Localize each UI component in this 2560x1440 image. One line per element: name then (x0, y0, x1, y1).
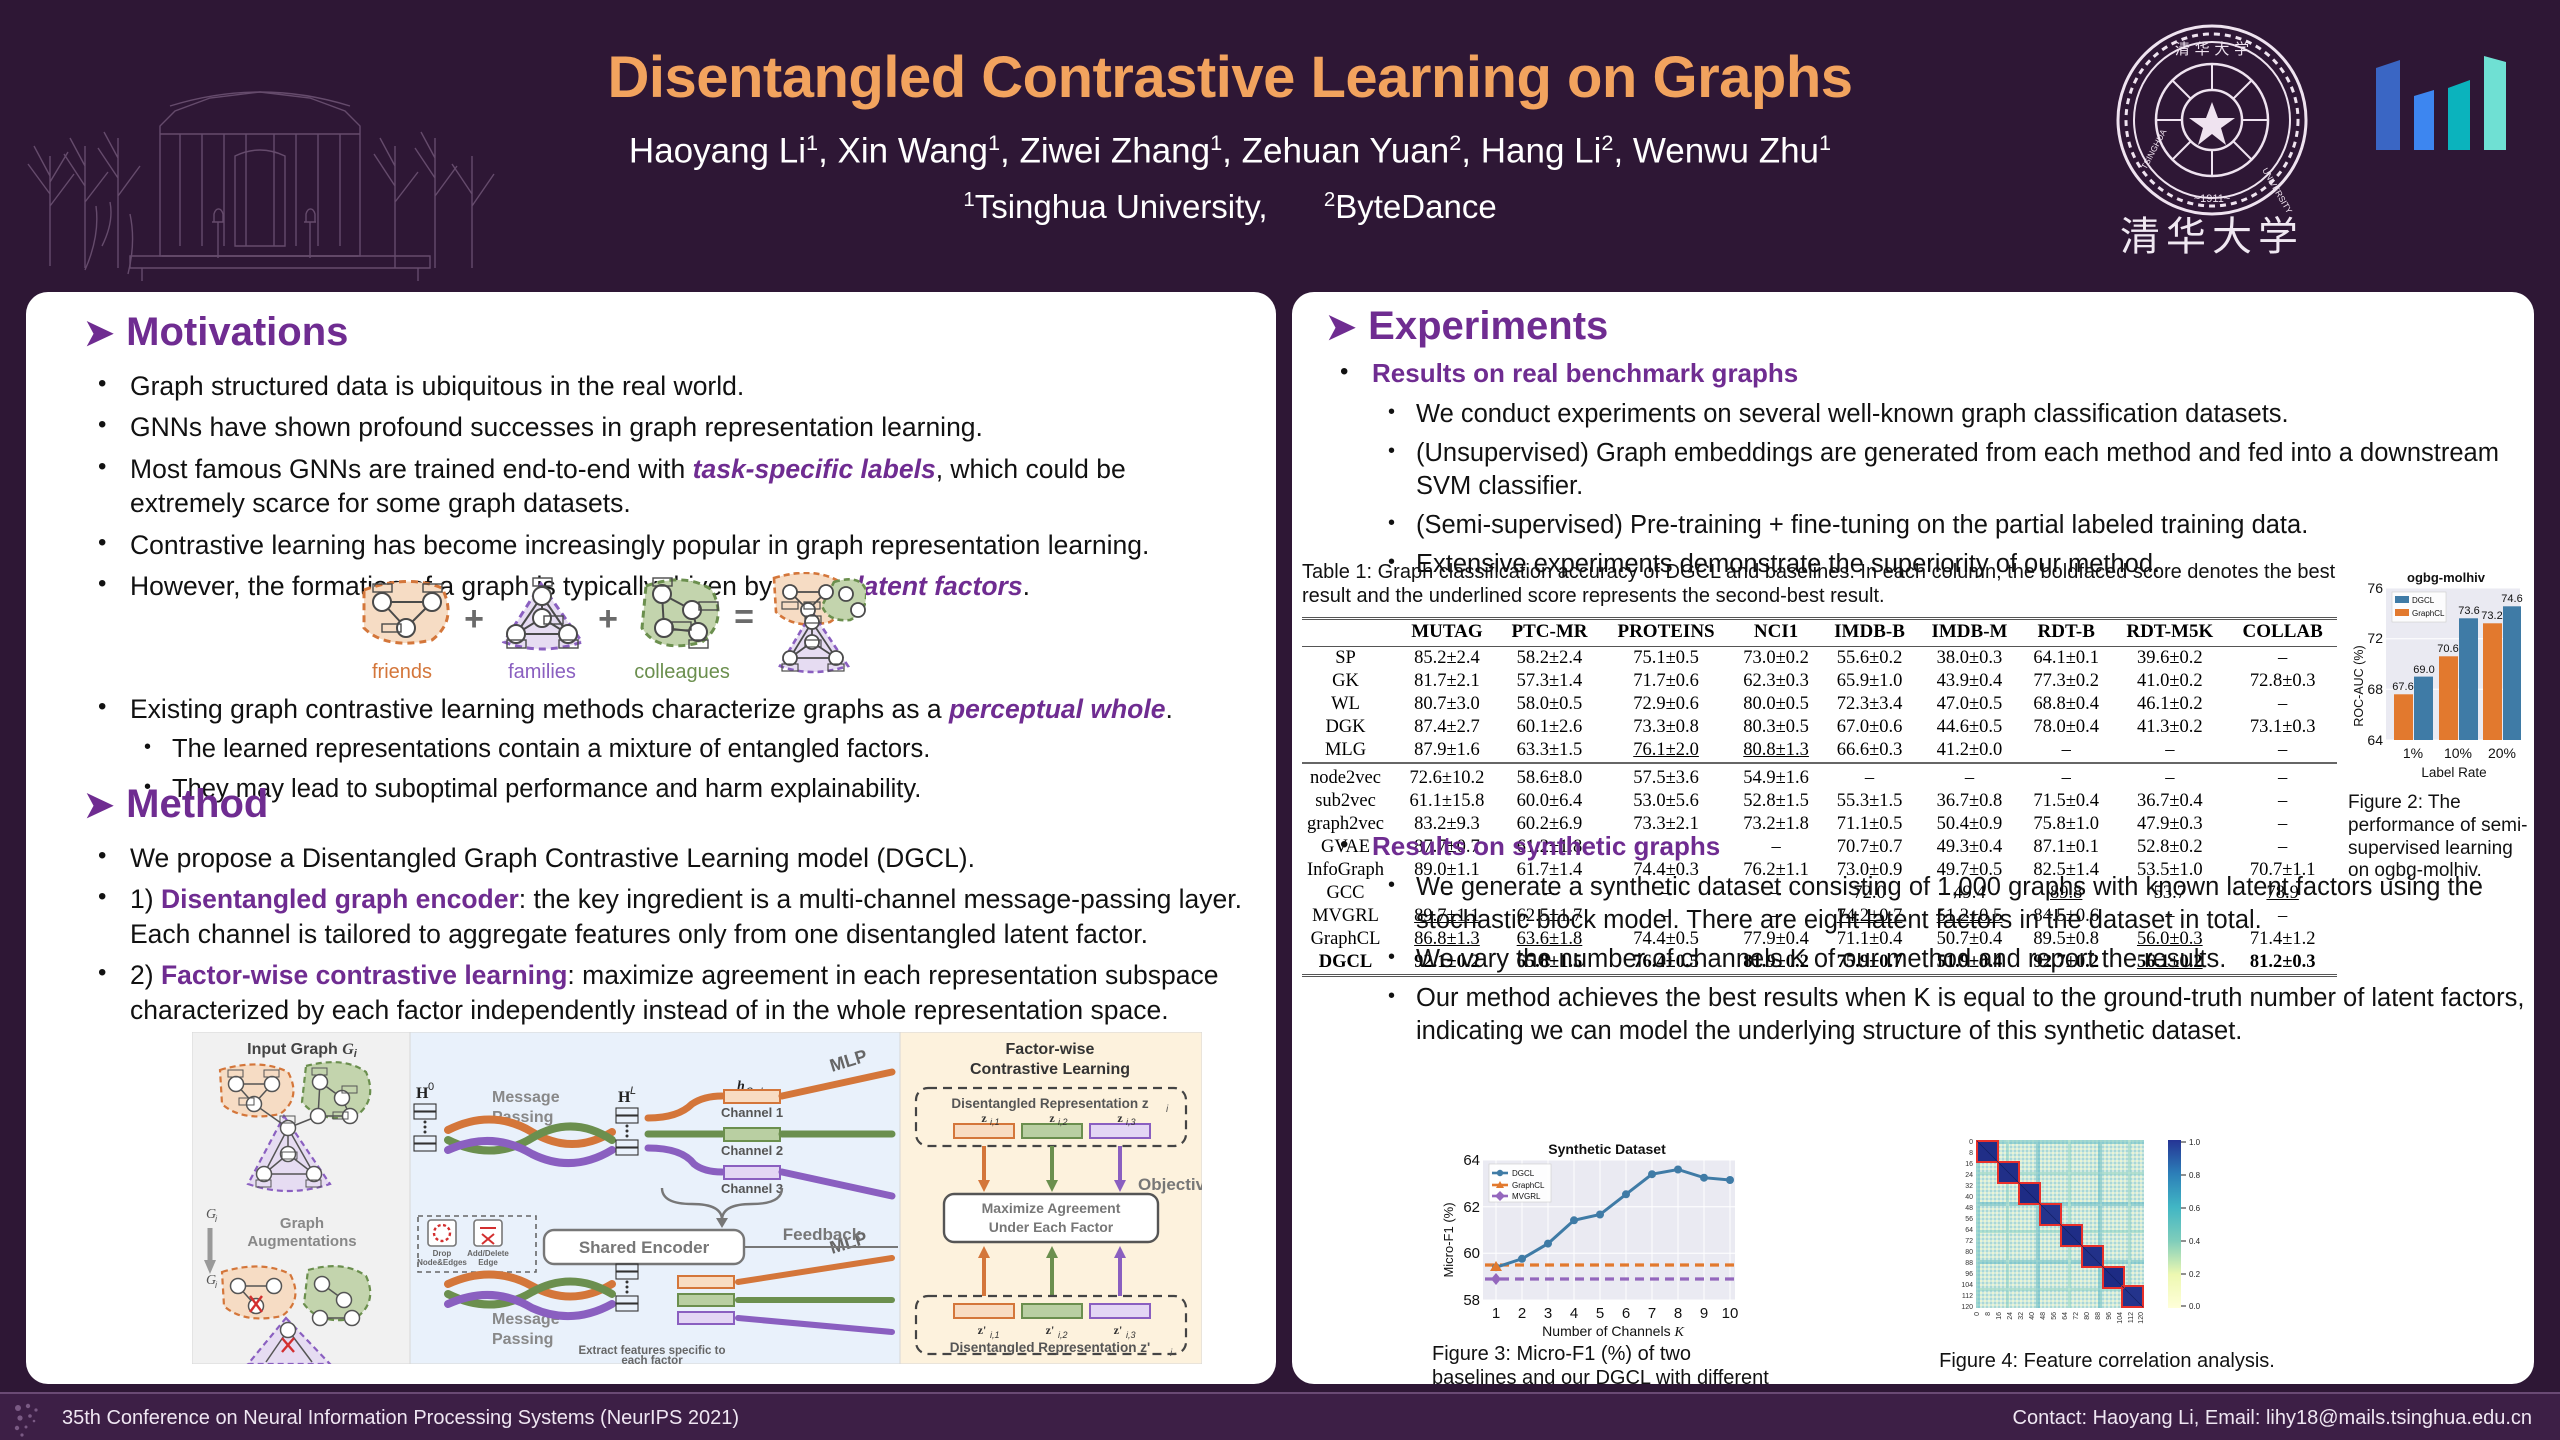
svg-text:z': z' (1114, 1323, 1123, 1337)
fig2-ytick: 76 (2367, 580, 2383, 596)
heatmap-ytick: 48 (1965, 1205, 1973, 1212)
list-item: Graph structured data is ubiquitous in t… (84, 369, 1244, 403)
fig2-legend-graphcl: GraphCL (2412, 609, 2445, 618)
heatmap-xtick: 8 (1985, 1312, 1992, 1316)
colorbar-tick: 0.8 (2189, 1171, 2201, 1180)
svg-text:Message: Message (492, 1089, 560, 1106)
latent-factors-figure: friends + families + (346, 572, 866, 692)
table-cell: 58.6±8.0 (1498, 767, 1601, 790)
col-head: RDT-B (2021, 618, 2111, 644)
heatmap-xtick: 0 (1974, 1312, 1981, 1316)
motivations-bullet-list: Graph structured data is ubiquitous in t… (84, 369, 1244, 604)
svg-text:Channel 2: Channel 2 (721, 1143, 783, 1158)
table-cell: – (2228, 767, 2337, 790)
table-row-label: SP (1302, 646, 1396, 670)
table-cell: – (2111, 767, 2228, 790)
list-item: Results on synthetic graphs (1326, 830, 2526, 864)
table-row: MLG87.9±1.663.3±1.576.1±2.080.8±1.366.6±… (1302, 739, 2337, 763)
plus-operator-2: + (598, 600, 618, 638)
factor-label-families: families (508, 661, 576, 683)
fig3-ytick: 58 (1463, 1292, 1480, 1309)
heatmap-xtick: 72 (2073, 1312, 2080, 1320)
equals-operator: = (734, 598, 754, 636)
table-row-label: DGK (1302, 716, 1396, 739)
svg-text:i,1: i,1 (990, 1330, 1000, 1340)
bytedance-logo (2370, 46, 2510, 156)
table-row-label: node2vec (1302, 767, 1396, 790)
experiments-sub2: Results on synthetic graphs We generate … (1326, 830, 2526, 1055)
figure4-caption: Figure 4: Feature correlation analysis. (1932, 1350, 2282, 1373)
heatmap-xtick: 56 (2051, 1312, 2058, 1320)
list-item: We generate a synthetic dataset consisti… (1372, 871, 2526, 937)
fig2-ytick: 72 (2367, 630, 2383, 646)
heatmap-ytick: 112 (1962, 1293, 1973, 1300)
fig2-legend-dgcl: DGCL (2412, 596, 2435, 605)
list-item: Results on real benchmark graphs (1326, 357, 2526, 391)
table-cell: 71.5±0.4 (2021, 790, 2111, 813)
table-row: DGK87.4±2.760.1±2.673.3±0.880.3±0.567.0±… (1302, 716, 2337, 739)
heatmap-xtick: 120 (2138, 1312, 2145, 1324)
motivations-heading-text: Motivations (126, 310, 348, 355)
table-cell: 38.0±0.3 (1918, 646, 2021, 670)
table-cell: 80.3±0.5 (1731, 716, 1821, 739)
svg-text:i,2: i,2 (1058, 1330, 1068, 1340)
table-row-label: GK (1302, 670, 1396, 693)
table-cell: 55.6±0.2 (1821, 646, 1918, 670)
poster-footer: 35th Conference on Neural Information Pr… (0, 1392, 2560, 1440)
col-head: RDT-M5K (2111, 618, 2228, 644)
table-cell: 36.7±0.8 (1918, 790, 2021, 813)
table-cell: 52.8±1.5 (1731, 790, 1821, 813)
figure2-bar-chart: ogbg-molhiv ROC-AUC (%) 76 72 68 64 (2350, 568, 2534, 788)
experiments-heading: ➤ Experiments (1326, 304, 2526, 349)
affiliation-line: 1Tsinghua University, 2ByteDance (430, 188, 2030, 226)
list-item: We propose a Disentangled Graph Contrast… (84, 841, 1264, 875)
fig2-bar-value: 69.0 (2413, 664, 2434, 676)
table-cell: 43.9±0.4 (1918, 670, 2021, 693)
table-cell: 41.0±0.2 (2111, 670, 2228, 693)
col-head: IMDB-B (1821, 618, 1918, 644)
svg-text:z': z' (1046, 1323, 1055, 1337)
svg-text:Disentangled Representation z: Disentangled Representation z (951, 1096, 1149, 1111)
table-cell: 58.0±0.5 (1498, 693, 1601, 716)
fig3-xtick: 2 (1518, 1305, 1526, 1322)
list-item: Our method achieves the best results whe… (1372, 982, 2526, 1048)
col-head: PROTEINS (1601, 618, 1731, 644)
table-row-label: WL (1302, 693, 1396, 716)
col-head: MUTAG (1396, 618, 1498, 644)
table-row: WL80.7±3.058.0±0.572.9±0.680.0±0.572.3±3… (1302, 693, 2337, 716)
fig3-xtick: 1 (1492, 1305, 1500, 1322)
heatmap-xtick: 24 (2007, 1312, 2014, 1320)
fig3-ylabel: Micro-F1 (%) (1441, 1202, 1456, 1277)
fig3-xtick: 7 (1648, 1305, 1656, 1322)
table-cell: 39.6±0.2 (2111, 646, 2228, 670)
svg-text:each factor: each factor (621, 1355, 683, 1364)
table-cell: 53.0±5.6 (1601, 790, 1731, 813)
list-item: (Semi-supervised) Pre-training + fine-tu… (1372, 509, 2526, 542)
fig2-xtick: 20% (2488, 745, 2516, 761)
fig3-legend-graphcl: GraphCL (1512, 1181, 1545, 1190)
fig3-xlabel: Number of Channels K (1542, 1323, 1684, 1340)
table-cell: 57.5±3.6 (1601, 767, 1731, 790)
table-cell: 62.3±0.3 (1731, 670, 1821, 693)
right-column-panel: ➤ Experiments Results on real benchmark … (1292, 292, 2534, 1384)
table-cell: 72.9±0.6 (1601, 693, 1731, 716)
heatmap-ytick: 120 (1961, 1304, 1973, 1311)
list-item: The learned representations contain a mi… (128, 733, 1264, 766)
table-cell: – (2228, 790, 2337, 813)
table-cell: 57.3±1.4 (1498, 670, 1601, 693)
table-row-label: MLG (1302, 739, 1396, 763)
table-row: SP85.2±2.458.2±2.475.1±0.573.0±0.255.6±0… (1302, 646, 2337, 670)
svg-text:Under Each Factor: Under Each Factor (989, 1219, 1114, 1235)
table-row: GK81.7±2.157.3±1.471.7±0.662.3±0.365.9±1… (1302, 670, 2337, 693)
list-item: 2) Factor-wise contrastive learning: max… (84, 958, 1264, 1027)
heatmap-ytick: 56 (1965, 1216, 1973, 1223)
table-cell: – (2111, 739, 2228, 763)
table-cell: 55.3±1.5 (1821, 790, 1918, 813)
heatmap-ytick: 0 (1969, 1139, 1973, 1146)
heatmap-xtick: 32 (2018, 1312, 2025, 1320)
fig3-xtick: 5 (1596, 1305, 1604, 1322)
table-cell: 65.9±1.0 (1821, 670, 1918, 693)
plus-operator-1: + (464, 600, 484, 638)
poster-header: Disentangled Contrastive Learning on Gra… (0, 0, 2560, 290)
svg-text:Disentangled Representation z': Disentangled Representation z' (950, 1340, 1151, 1355)
heatmap-ytick: 24 (1965, 1172, 1973, 1179)
col-head: COLLAB (2228, 618, 2337, 644)
svg-text:L: L (630, 1085, 636, 1097)
table-cell: – (1918, 767, 2021, 790)
fig2-bar-value: 70.6 (2437, 643, 2458, 655)
svg-text:Channel 1: Channel 1 (721, 1105, 783, 1120)
colorbar-tick: 1.0 (2189, 1138, 2201, 1147)
chevron-right-icon: ➤ (84, 315, 114, 351)
table-cell: 87.9±1.6 (1396, 739, 1498, 763)
fig2-ytick: 68 (2367, 681, 2383, 697)
fig2-bar-value: 73.6 (2458, 605, 2479, 617)
heatmap-ytick: 8 (1969, 1150, 1973, 1157)
fig3-legend-dgcl: DGCL (1512, 1169, 1535, 1178)
svg-text:z: z (1049, 1111, 1055, 1125)
svg-text:Objective: Objective (1138, 1175, 1202, 1194)
motivations-bullet-list-2: Existing graph contrastive learning meth… (84, 692, 1264, 726)
heatmap-ytick: 88 (1965, 1260, 1973, 1267)
chevron-right-icon: ➤ (1326, 309, 1356, 345)
factor-label-friends: friends (372, 661, 432, 683)
table-cell: 41.2±0.0 (1918, 739, 2021, 763)
table-cell: 72.8±0.3 (2228, 670, 2337, 693)
experiments-sub2-bullets: We generate a synthetic dataset consisti… (1372, 871, 2526, 1049)
table-cell: 81.7±2.1 (1396, 670, 1498, 693)
heatmap-xtick: 112 (2128, 1312, 2135, 1323)
input-graph-title: Input Graph Gi (247, 1041, 358, 1060)
list-item: We conduct experiments on several well-k… (1372, 398, 2526, 431)
table-cell: 44.6±0.5 (1918, 716, 2021, 739)
fig2-xtick: 10% (2444, 745, 2472, 761)
motivations-section: ➤ Motivations Graph structured data is u… (84, 310, 1244, 611)
table-cell: 54.9±1.6 (1731, 767, 1821, 790)
table-row: sub2vec61.1±15.860.0±6.453.0±5.652.8±1.5… (1302, 790, 2337, 813)
list-item: 1) Disentangled graph encoder: the key i… (84, 882, 1264, 951)
table-cell: – (1821, 767, 1918, 790)
table-cell: 87.4±2.7 (1396, 716, 1498, 739)
svg-text:z: z (1117, 1111, 1123, 1125)
fig3-ytick: 60 (1463, 1245, 1480, 1262)
table-cell: 85.2±2.4 (1396, 646, 1498, 670)
colorbar-tick: 0.4 (2189, 1237, 2201, 1246)
svg-text:Passing: Passing (492, 1331, 553, 1348)
table-cell: 73.3±0.8 (1601, 716, 1731, 739)
table-cell: 78.0±0.4 (2021, 716, 2111, 739)
col-head: PTC-MR (1498, 618, 1601, 644)
heatmap-ytick: 16 (1965, 1161, 1973, 1168)
heatmap-xtick: 40 (2029, 1312, 2036, 1320)
svg-text:i,2: i,2 (1058, 1117, 1068, 1127)
factor-label-colleagues: colleagues (634, 661, 730, 683)
svg-text:Channel 3: Channel 3 (721, 1181, 783, 1196)
table-cell: – (2228, 646, 2337, 670)
author-list: Haoyang Li1, Xin Wang1, Ziwei Zhang1, Ze… (430, 130, 2030, 172)
table-cell: 73.0±0.2 (1731, 646, 1821, 670)
experiments-heading-text: Experiments (1368, 304, 1608, 349)
table-row-label: sub2vec (1302, 790, 1396, 813)
svg-text:Contrastive Learning: Contrastive Learning (970, 1061, 1130, 1078)
fig3-xtick: 10 (1722, 1305, 1739, 1322)
table-cell: 80.8±1.3 (1731, 739, 1821, 763)
colorbar-tick: 0.0 (2189, 1302, 2201, 1311)
experiments-section: ➤ Experiments Results on real benchmark … (1326, 304, 2526, 588)
heatmap-ytick: 96 (1965, 1271, 1973, 1278)
heatmap-xtick: 64 (2062, 1312, 2069, 1320)
heatmap-xtick: 104 (2117, 1312, 2124, 1324)
heatmap-xtick: 88 (2095, 1312, 2102, 1320)
table-cell: 61.1±15.8 (1396, 790, 1498, 813)
table-cell: 36.7±0.4 (2111, 790, 2228, 813)
affiliation-1: Tsinghua University, (975, 188, 1268, 225)
table-cell: 60.0±6.4 (1498, 790, 1601, 813)
page-title: Disentangled Contrastive Learning on Gra… (430, 44, 2030, 111)
svg-text:Drop: Drop (433, 1249, 452, 1258)
tsinghua-chinese-name: 清华大学 (2082, 204, 2342, 262)
svg-text:Augmentations: Augmentations (247, 1233, 356, 1250)
list-item: We vary the number of channels K of our … (1372, 943, 2526, 976)
svg-text:Graph: Graph (280, 1215, 324, 1232)
colorbar-tick: 0.2 (2189, 1270, 2201, 1279)
fig3-xtick: 4 (1570, 1305, 1578, 1322)
heatmap-ytick: 32 (1965, 1183, 1973, 1190)
svg-text:i,3: i,3 (1126, 1330, 1136, 1340)
decorative-dots-icon (10, 1400, 60, 1440)
table-cell: 73.1±0.3 (2228, 716, 2337, 739)
table-cell: 68.8±0.4 (2021, 693, 2111, 716)
heatmap-xtick: 16 (1996, 1312, 2003, 1320)
svg-text:Add/Delete: Add/Delete (467, 1249, 509, 1258)
table-cell: 46.1±0.2 (2111, 693, 2228, 716)
fig3-title: Synthetic Dataset (1548, 1141, 1666, 1157)
table-cell: 72.6±10.2 (1396, 767, 1498, 790)
table-cell: 75.1±0.5 (1601, 646, 1731, 670)
fig2-bar-value: 67.6 (2392, 681, 2413, 693)
svg-text:Shared Encoder: Shared Encoder (579, 1238, 710, 1257)
table-cell: – (2021, 767, 2111, 790)
experiments-sub2-heading-list: Results on synthetic graphs (1326, 830, 2526, 864)
fig2-ylabel: ROC-AUC (%) (2352, 645, 2366, 726)
heatmap-ytick: 104 (1961, 1282, 1973, 1289)
method-heading-text: Method (126, 782, 268, 827)
table-cell: 64.1±0.1 (2021, 646, 2111, 670)
table-cell: 41.3±0.2 (2111, 716, 2228, 739)
colorbar-tick: 0.6 (2189, 1204, 2201, 1213)
table-cell: 47.0±0.5 (1918, 693, 2021, 716)
left-column-panel: ➤ Motivations Graph structured data is u… (26, 292, 1276, 1384)
list-item: Most famous GNNs are trained end-to-end … (84, 452, 1244, 521)
footer-conference-text: 35th Conference on Neural Information Pr… (62, 1407, 739, 1430)
fig3-xtick: 8 (1674, 1305, 1682, 1322)
table-cell: 80.0±0.5 (1731, 693, 1821, 716)
svg-text:Maximize Agreement: Maximize Agreement (982, 1200, 1121, 1216)
fig3-xtick: 3 (1544, 1305, 1552, 1322)
list-item: (Unsupervised) Graph embeddings are gene… (1372, 437, 2526, 503)
svg-text:0: 0 (428, 1081, 434, 1093)
table-cell: 80.7±3.0 (1396, 693, 1498, 716)
svg-text:Node&Edges: Node&Edges (417, 1258, 467, 1267)
fig3-legend-mvgrl: MVGRL (1512, 1192, 1541, 1201)
footer-contact-text: Contact: Haoyang Li, Email: lihy18@mails… (2013, 1407, 2532, 1430)
architecture-diagram: Input Graph Gi (192, 1032, 1202, 1364)
table-header-row: MUTAG PTC-MR PROTEINS NCI1 IMDB-B IMDB-M… (1302, 618, 2337, 644)
heatmap-ytick: 80 (1965, 1249, 1973, 1256)
fig3-xtick: 9 (1700, 1305, 1708, 1322)
svg-text:i,1: i,1 (990, 1117, 1000, 1127)
svg-text:Factor-wise: Factor-wise (1006, 1041, 1095, 1058)
heatmap-xtick: 80 (2084, 1312, 2091, 1320)
svg-text:i,3: i,3 (1126, 1117, 1136, 1127)
svg-text:清 华 大 学: 清 华 大 学 (2175, 40, 2249, 58)
table-cell: 72.3±3.4 (1821, 693, 1918, 716)
col-head: IMDB-M (1918, 618, 2021, 644)
fig3-ytick: 64 (1463, 1152, 1480, 1169)
heatmap-xtick: 48 (2040, 1312, 2047, 1320)
fig2-xtick: 1% (2403, 745, 2423, 761)
heatmap-ytick: 64 (1965, 1227, 1973, 1234)
col-head (1302, 618, 1396, 644)
table-cell: 67.0±0.6 (1821, 716, 1918, 739)
svg-text:Feedback: Feedback (783, 1225, 862, 1244)
method-bullet-list: We propose a Disentangled Graph Contrast… (84, 841, 1264, 1027)
col-head: NCI1 (1731, 618, 1821, 644)
table-cell: 71.7±0.6 (1601, 670, 1731, 693)
list-item: Existing graph contrastive learning meth… (84, 692, 1264, 726)
table1-caption: Table 1: Graph classification accuracy o… (1302, 560, 2342, 609)
table-row: node2vec72.6±10.258.6±8.057.5±3.654.9±1.… (1302, 767, 2337, 790)
table-cell: 58.2±2.4 (1498, 646, 1601, 670)
fig2-bar-value: 73.2 (2481, 610, 2502, 622)
method-heading: ➤ Method (84, 782, 1264, 827)
fig3-xtick: 6 (1622, 1305, 1630, 1322)
table-cell: – (2228, 739, 2337, 763)
experiments-sub1-heading-list: Results on real benchmark graphs (1326, 357, 2526, 391)
fig2-ytick: 64 (2367, 732, 2383, 748)
table-cell: 77.3±0.2 (2021, 670, 2111, 693)
figure3-line-chart: Synthetic Dataset Micro-F1 (%) 64 62 60 … (1437, 1140, 1747, 1340)
list-item: GNNs have shown profound successes in gr… (84, 410, 1244, 444)
list-item: Contrastive learning has become increasi… (84, 528, 1244, 562)
affiliation-2: ByteDance (1335, 188, 1496, 225)
experiments-sub1-bullets: We conduct experiments on several well-k… (1372, 398, 2526, 582)
tsinghua-seal-logo: 清 华 大 学 ~1911~ TSINGHUA UNIVERSITY (2112, 20, 2312, 220)
fig2-bar-value: 74.6 (2501, 593, 2522, 605)
fig2-xlabel: Label Rate (2421, 765, 2486, 780)
table-cell: 76.1±2.0 (1601, 739, 1731, 763)
heatmap-ytick: 40 (1965, 1194, 1973, 1201)
svg-text:z: z (981, 1111, 987, 1125)
table-cell: 60.1±2.6 (1498, 716, 1601, 739)
chevron-right-icon: ➤ (84, 787, 114, 823)
poster-root: Disentangled Contrastive Learning on Gra… (0, 0, 2560, 1440)
fig3-ytick: 62 (1463, 1199, 1480, 1216)
table-body-group1: SP85.2±2.458.2±2.475.1±0.573.0±0.255.6±0… (1302, 646, 2337, 763)
svg-text:z': z' (978, 1323, 987, 1337)
fig2-title: ogbg-molhiv (2407, 570, 2486, 585)
table-cell: – (2228, 693, 2337, 716)
method-section: ➤ Method We propose a Disentangled Graph… (84, 782, 1264, 1034)
heatmap-xtick: 96 (2106, 1312, 2113, 1320)
heatmap-ytick: 72 (1965, 1238, 1973, 1245)
table-cell: – (2021, 739, 2111, 763)
figure4-heatmap: 0 8 16 24 32 40 48 56 64 72 80 88 96 104… (1932, 1132, 2272, 1347)
motivations-heading: ➤ Motivations (84, 310, 1244, 355)
table-cell: 63.3±1.5 (1498, 739, 1601, 763)
svg-text:Edge: Edge (478, 1258, 498, 1267)
table-cell: 66.6±0.3 (1821, 739, 1918, 763)
